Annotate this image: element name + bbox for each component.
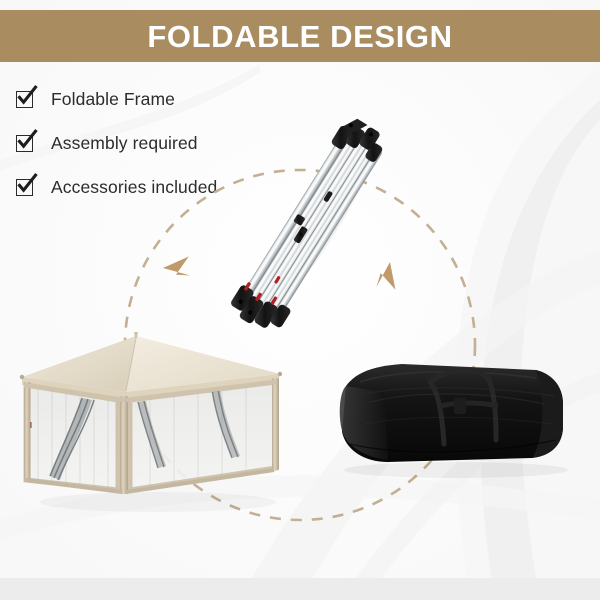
infographic-canvas: FOLDABLE DESIGN Foldable Frame Assembly … [0, 0, 600, 600]
pop-up-gazebo-image [8, 330, 308, 520]
arrow-left-icon [163, 249, 199, 285]
carry-bag-image [330, 352, 580, 480]
bottom-band [0, 578, 600, 600]
folded-aluminum-frame-image [196, 108, 426, 338]
